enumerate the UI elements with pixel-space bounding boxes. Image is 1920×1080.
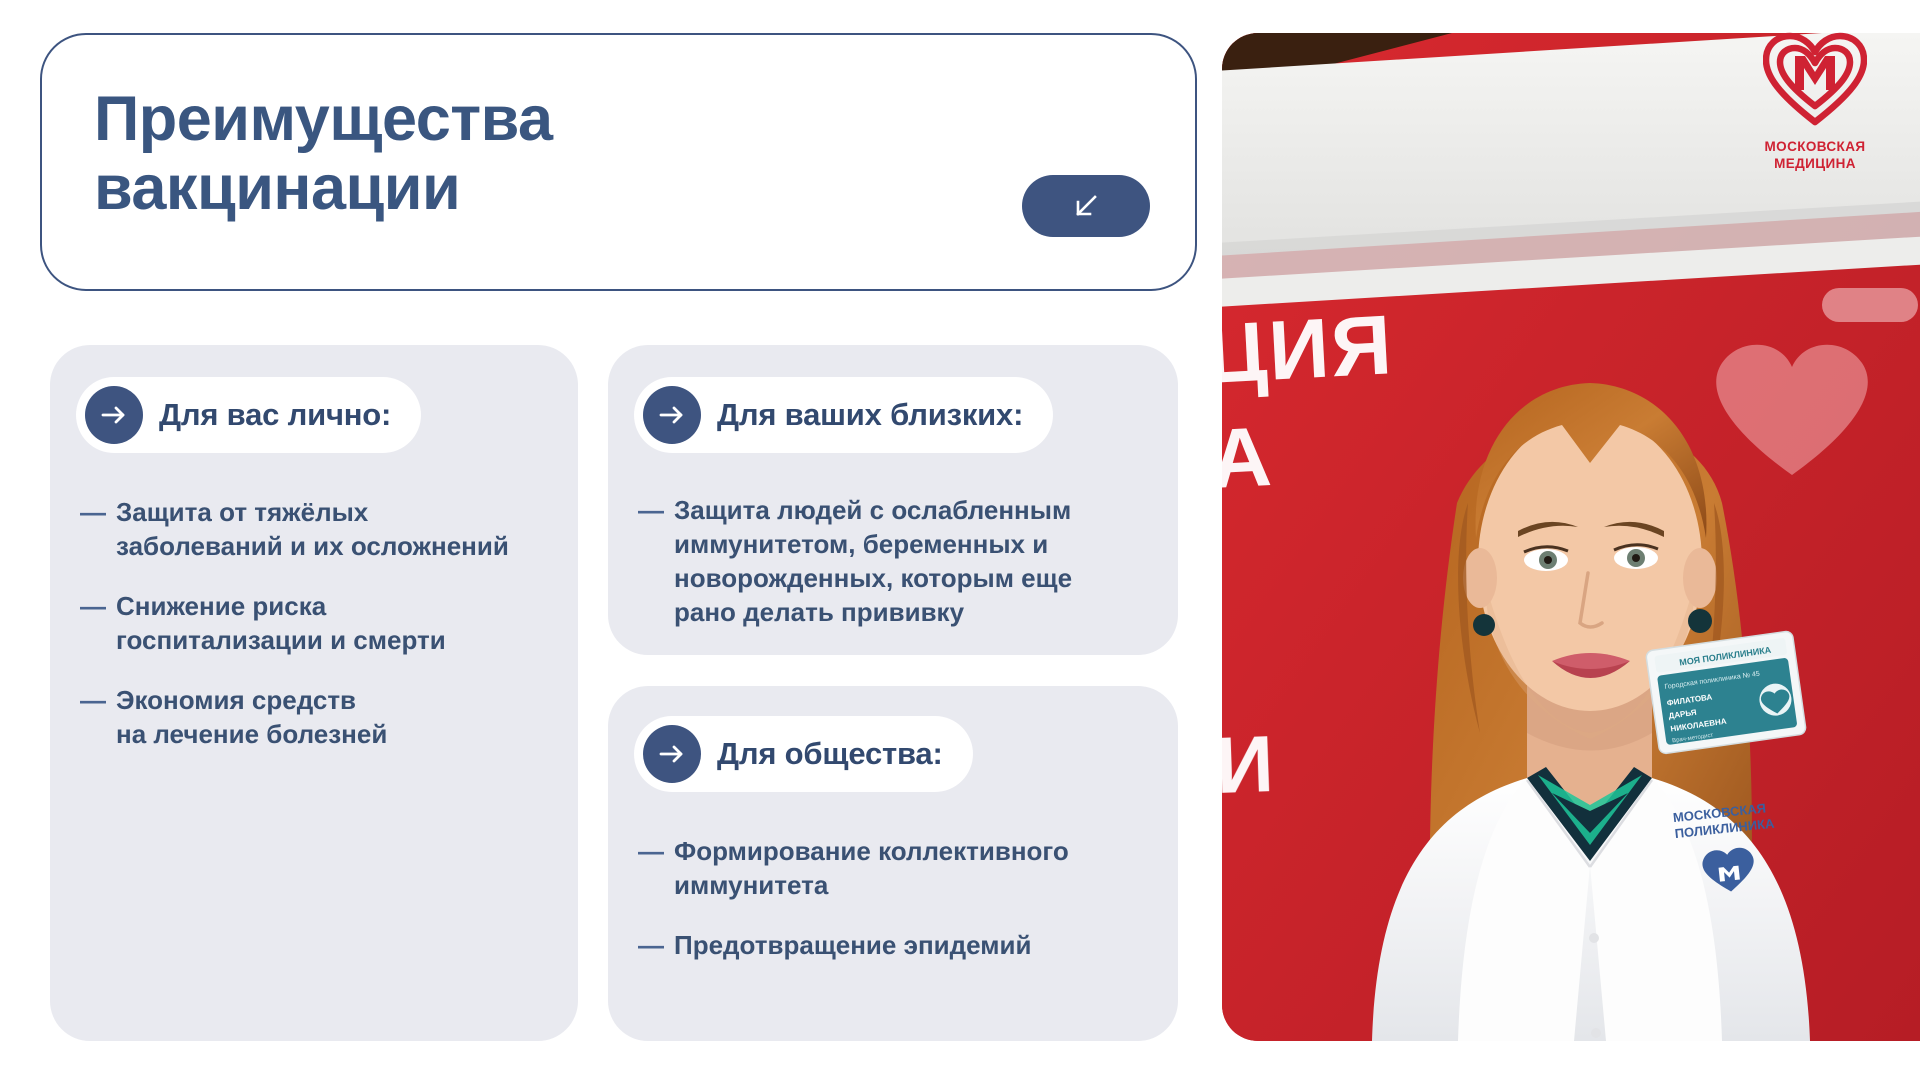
arrow-right-circle-icon: [85, 386, 143, 444]
card-family-bullets: — Защита людей с ослабленным иммунитетом…: [638, 493, 1148, 629]
list-item: — Защита от тяжёлых заболеваний и их осл…: [80, 495, 550, 563]
download-button[interactable]: [1022, 175, 1150, 237]
card-family-heading: Для ваших близких:: [717, 397, 1023, 433]
card-personal-header: Для вас лично:: [76, 377, 421, 453]
bullet-dash-icon: —: [80, 589, 102, 623]
svg-text:И: И: [1222, 719, 1277, 810]
bullet-dash-icon: —: [638, 928, 660, 962]
card-personal: Для вас лично: — Защита от тяжёлых забол…: [50, 345, 578, 1041]
list-item: — Формирование коллективного иммунитета: [638, 834, 1150, 902]
bullet-text: Формирование коллективного иммунитета: [674, 834, 1069, 902]
arrow-down-left-icon: [1069, 189, 1103, 223]
svg-text:ЦИЯ: ЦИЯ: [1222, 297, 1396, 401]
list-item: — Предотвращение эпидемий: [638, 928, 1150, 962]
card-society-header: Для общества:: [634, 716, 973, 792]
list-item: — Защита людей с ослабленным иммунитетом…: [638, 493, 1148, 629]
bullet-text: Защита людей с ослабленным иммунитетом, …: [674, 493, 1072, 629]
header-card: Преимущества вакцинации: [40, 33, 1197, 291]
bullet-text: Предотвращение эпидемий: [674, 928, 1031, 962]
slide-root: Преимущества вакцинации Для вас лично:: [0, 0, 1920, 1080]
bullet-text: Экономия средств на лечение болезней: [116, 683, 387, 751]
brand-logo: МОСКОВСКАЯ МЕДИЦИНА: [1745, 32, 1885, 173]
card-society-bullets: — Формирование коллективного иммунитета …: [638, 834, 1150, 962]
page-title: Преимущества вакцинации: [94, 85, 553, 224]
list-item: — Снижение риска госпитализации и смерти: [80, 589, 550, 657]
bullet-text: Защита от тяжёлых заболеваний и их ослож…: [116, 495, 509, 563]
svg-text:А: А: [1222, 409, 1276, 506]
card-personal-heading: Для вас лично:: [159, 397, 391, 433]
arrow-right-circle-icon: [643, 386, 701, 444]
bullet-dash-icon: —: [80, 495, 102, 529]
brand-logo-text: МОСКОВСКАЯ МЕДИЦИНА: [1745, 139, 1885, 173]
bullet-dash-icon: —: [638, 493, 660, 527]
list-item: — Экономия средств на лечение болезней: [80, 683, 550, 751]
card-family: Для ваших близких: — Защита людей с осла…: [608, 345, 1178, 655]
card-family-header: Для ваших близких:: [634, 377, 1053, 453]
card-society: Для общества: — Формирование коллективно…: [608, 686, 1178, 1041]
bullet-dash-icon: —: [638, 834, 660, 868]
arrow-right-circle-icon: [643, 725, 701, 783]
doctor-photo: ЦИЯ А И: [1222, 33, 1920, 1041]
card-personal-bullets: — Защита от тяжёлых заболеваний и их осл…: [80, 495, 550, 751]
heart-m-logo-icon: [1745, 32, 1885, 131]
bullet-dash-icon: —: [80, 683, 102, 717]
card-society-heading: Для общества:: [717, 736, 943, 772]
bullet-text: Снижение риска госпитализации и смерти: [116, 589, 446, 657]
